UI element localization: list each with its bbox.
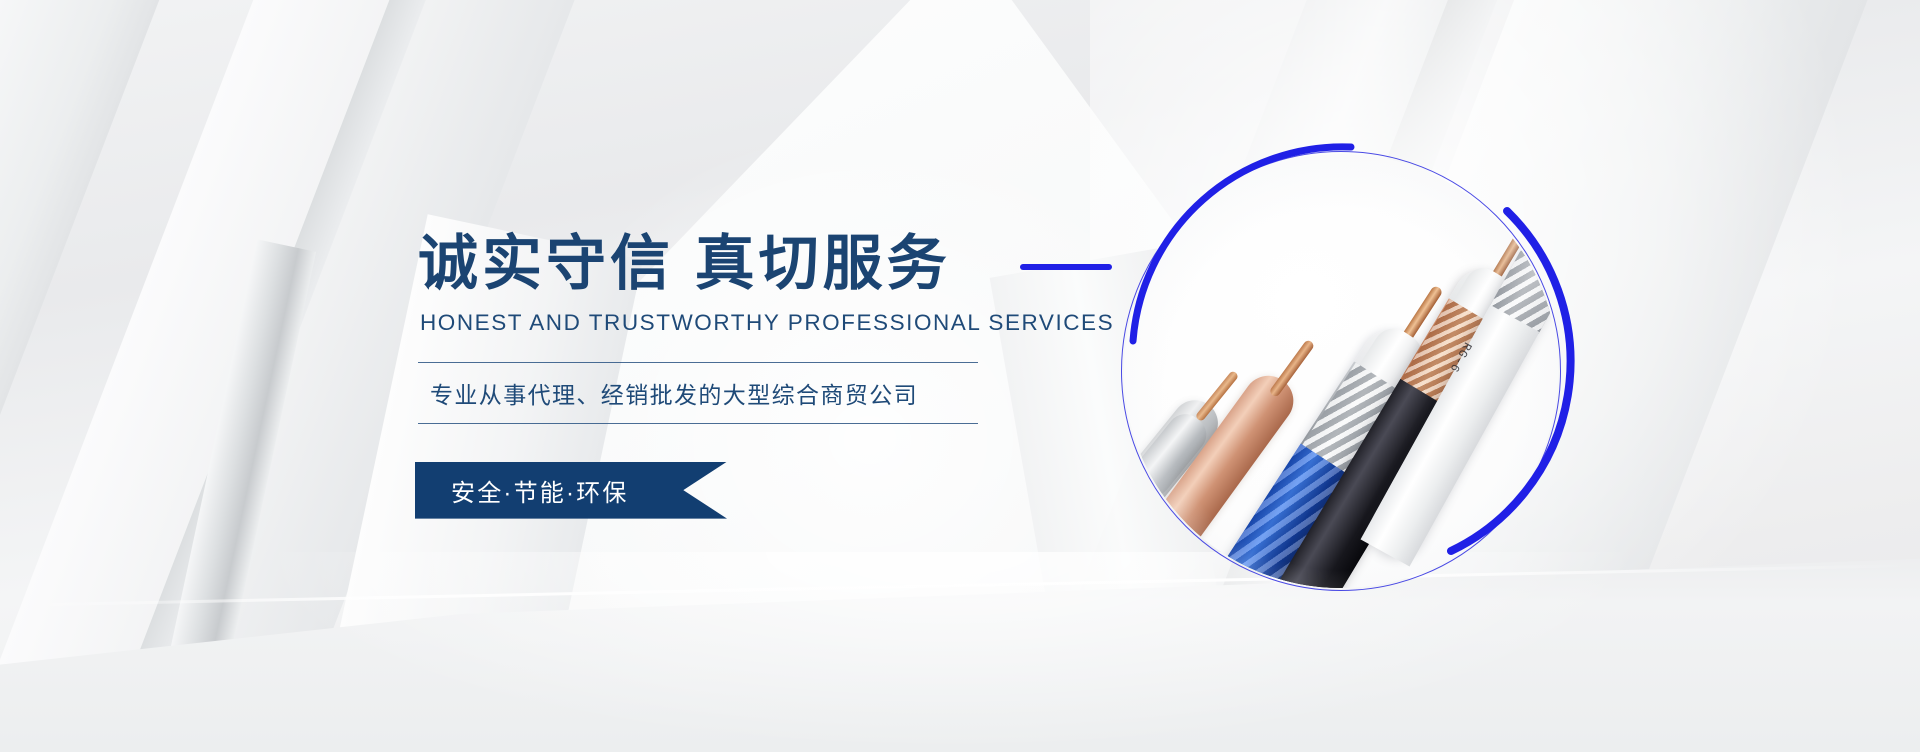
arc-right [1451,211,1571,551]
banner-headline: 诚实守信 真切服务 [418,232,1078,296]
arc-upper-left [1133,147,1351,341]
banner-tagline: 专业从事代理、经销批发的大型综合商贸公司 [418,363,978,423]
product-medallion: RG-6 [1115,145,1567,597]
banner-subheadline: HONEST AND TRUSTWORTHY PROFESSIONAL SERV… [420,310,1078,336]
background-slab-a [0,0,3,752]
divider-bottom [418,423,978,424]
medallion-accent-arcs [1115,145,1567,597]
hero-banner: 诚实守信 真切服务 HONEST AND TRUSTWORTHY PROFESS… [0,0,1920,752]
feature-ribbon-badge: 安全·节能·环保 [415,462,727,519]
banner-copy-block: 诚实守信 真切服务 HONEST AND TRUSTWORTHY PROFESS… [418,232,1078,519]
banner-tagline-block: 专业从事代理、经销批发的大型综合商贸公司 [418,362,978,424]
feature-ribbon-label: 安全·节能·环保 [415,473,629,508]
background-slab-c [0,0,200,752]
divider-top [418,362,978,363]
